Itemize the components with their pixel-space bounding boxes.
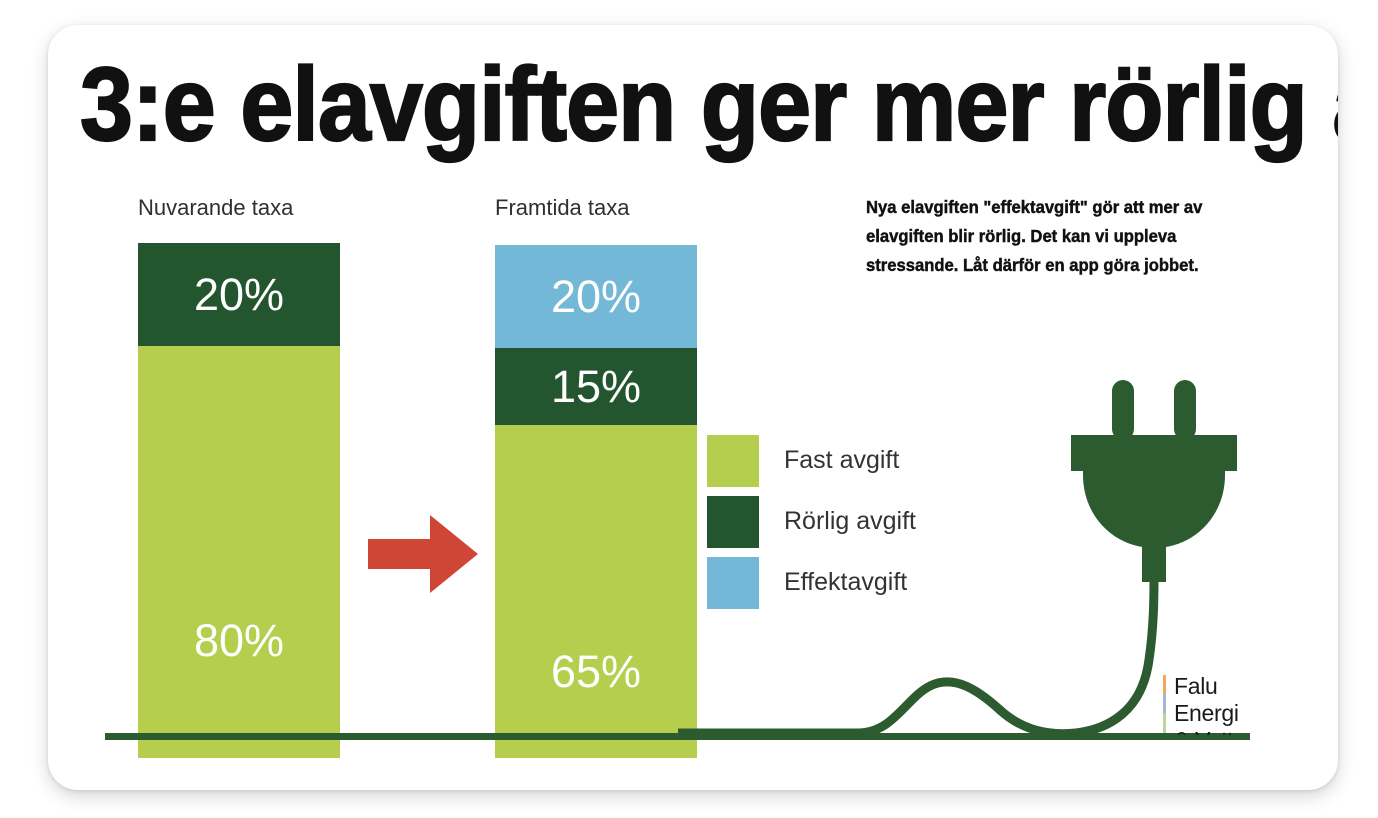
logo-accent-bar bbox=[1163, 675, 1166, 733]
segment-rorlig-avgift: 15% bbox=[495, 348, 697, 425]
segment-fast-avgift: 80% bbox=[138, 346, 340, 758]
bar-label-framtida-taxa: Framtida taxa bbox=[495, 195, 630, 221]
infographic-card: 3:e elavgiften ger mer rörlig avgift Nya… bbox=[48, 25, 1338, 790]
segment-rorlig-avgift: 20% bbox=[138, 243, 340, 346]
falu-energi-logo: Falu Energi & Vatten bbox=[1163, 673, 1273, 735]
bar-nuvarande-taxa: 20% 80% bbox=[138, 243, 340, 758]
bar-framtida-taxa: 20% 15% 65% bbox=[495, 245, 697, 758]
infographic-stage: 3:e elavgiften ger mer rörlig avgift Nya… bbox=[0, 0, 1378, 818]
segment-value-label: 65% bbox=[551, 649, 641, 694]
logo-line-3: & Vatten bbox=[1174, 727, 1258, 735]
segment-value-label: 15% bbox=[551, 364, 641, 409]
bar-label-nuvarande-taxa: Nuvarande taxa bbox=[138, 195, 293, 221]
segment-fast-avgift: 65% bbox=[495, 425, 697, 758]
segment-value-label: 20% bbox=[194, 272, 284, 317]
segment-value-label: 80% bbox=[194, 618, 284, 663]
logo-text: Falu Energi & Vatten bbox=[1174, 673, 1258, 735]
logo-line-1: Falu bbox=[1174, 673, 1218, 699]
right-arrow-icon bbox=[368, 513, 478, 595]
segment-value-label: 20% bbox=[551, 274, 641, 319]
segment-effektavgift: 20% bbox=[495, 245, 697, 348]
stacked-bar-chart: Nuvarande taxa Framtida taxa 20% 80% 20%… bbox=[48, 25, 1338, 790]
logo-line-2: Energi bbox=[1174, 700, 1239, 726]
